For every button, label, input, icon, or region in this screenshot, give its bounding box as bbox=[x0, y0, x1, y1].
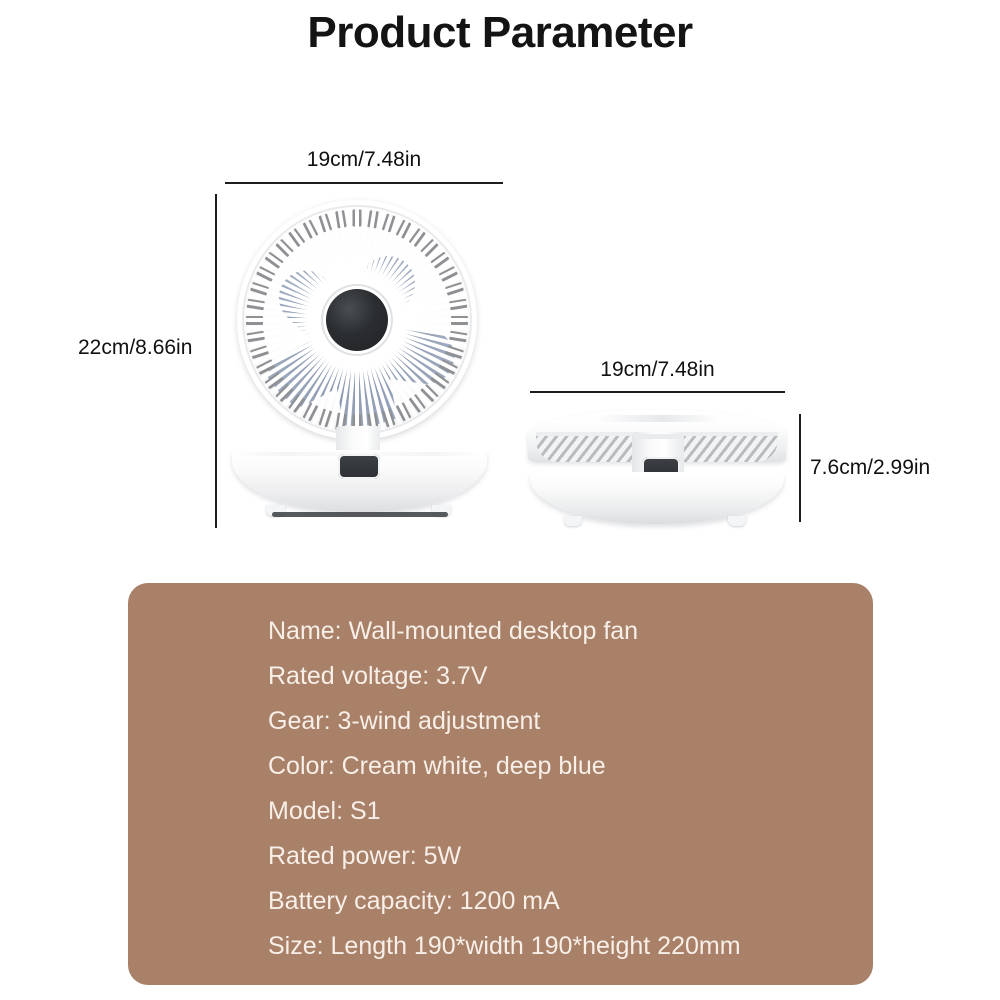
spec-line-rated-voltage: Rated voltage: 3.7V bbox=[268, 654, 858, 699]
fan-base-shadow bbox=[272, 512, 448, 517]
spec-line-size: Size: Length 190*width 190*height 220mm bbox=[268, 924, 858, 969]
folded-fan-head-sheen bbox=[598, 415, 718, 422]
specification-list: Name: Wall-mounted desktop fan Rated vol… bbox=[268, 609, 858, 969]
page-title: Product Parameter bbox=[0, 8, 1000, 58]
specification-panel: Name: Wall-mounted desktop fan Rated vol… bbox=[128, 583, 873, 985]
upright-fan-illustration bbox=[232, 200, 487, 545]
folded-fan-height-dimension-line bbox=[799, 414, 801, 522]
product-figure: 19cm/7.48in 22cm/8.66in bbox=[0, 120, 1000, 550]
folded-fan-foot-right bbox=[728, 516, 746, 526]
upright-fan-height-dimension-line bbox=[215, 194, 217, 528]
folded-fan-hinge-seam bbox=[634, 434, 682, 439]
upright-fan-width-label: 19cm/7.48in bbox=[225, 148, 503, 172]
folded-fan-width-label: 19cm/7.48in bbox=[530, 358, 785, 382]
fan-base bbox=[232, 450, 487, 512]
folded-fan-foot-left bbox=[564, 516, 582, 526]
spec-line-model: Model: S1 bbox=[268, 789, 858, 834]
spec-line-color: Color: Cream white, deep blue bbox=[268, 744, 858, 789]
upright-fan-width-dimension-line bbox=[225, 182, 503, 184]
fan-hub bbox=[326, 289, 388, 351]
spec-line-gear: Gear: 3-wind adjustment bbox=[268, 699, 858, 744]
upright-fan-height-label: 22cm/8.66in bbox=[78, 336, 192, 360]
folded-fan-height-label: 7.6cm/2.99in bbox=[810, 456, 930, 480]
folded-fan-illustration bbox=[528, 410, 786, 540]
spec-line-rated-power: Rated power: 5W bbox=[268, 834, 858, 879]
fan-control-display bbox=[338, 454, 380, 479]
fan-head bbox=[237, 200, 477, 440]
folded-grille-right bbox=[674, 436, 778, 462]
folded-fan-width-dimension-line bbox=[530, 391, 785, 393]
folded-grille-left bbox=[536, 436, 640, 462]
spec-line-name: Name: Wall-mounted desktop fan bbox=[268, 609, 858, 654]
spec-line-battery-capacity: Battery capacity: 1200 mA bbox=[268, 879, 858, 924]
